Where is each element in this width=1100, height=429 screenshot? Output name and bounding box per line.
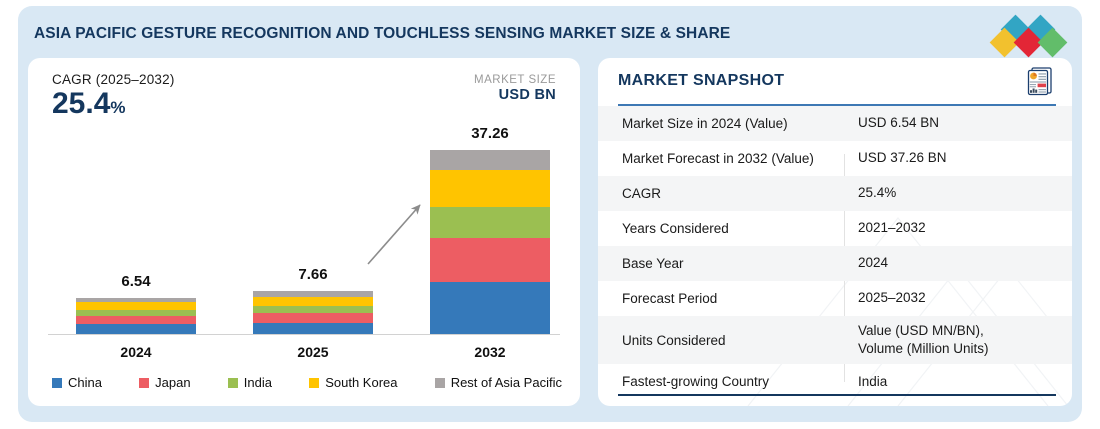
- stacked-bar-2032[interactable]: [430, 150, 550, 334]
- cagr-block: CAGR (2025–2032) 25.4%: [52, 72, 175, 120]
- bar-total-label-2025: 7.66: [253, 266, 373, 283]
- table-cell-key: Years Considered: [598, 221, 846, 236]
- legend-label-japan: Japan: [155, 375, 190, 390]
- bar-group-2032[interactable]: 37.26 2032: [430, 150, 550, 334]
- units-caption: MARKET SIZE: [474, 74, 556, 86]
- table-cell-value: 2024: [846, 254, 1072, 272]
- table-cell-key: Base Year: [598, 256, 846, 271]
- snapshot-bottom-rule: [618, 394, 1056, 396]
- table-row[interactable]: Base Year 2024: [598, 246, 1072, 281]
- bar-total-label-2024: 6.54: [76, 273, 196, 290]
- table-cell-value: USD 6.54 BN: [846, 114, 1072, 132]
- cagr-value: 25.4%: [52, 88, 175, 120]
- bar-segment-south-korea-2024[interactable]: [76, 302, 196, 310]
- table-cell-key: Units Considered: [598, 333, 846, 348]
- x-tick-label-2025: 2025: [253, 344, 373, 360]
- legend-label-india: India: [244, 375, 272, 390]
- x-tick-label-2024: 2024: [76, 344, 196, 360]
- bar-segment-china-2024[interactable]: [76, 324, 196, 334]
- bar-total-label-2032: 37.26: [430, 125, 550, 142]
- chart-legend: China Japan India South Korea Rest of As…: [52, 375, 562, 390]
- chart-card: CAGR (2025–2032) 25.4% MARKET SIZE USD B…: [28, 58, 580, 406]
- legend-label-china: China: [68, 375, 102, 390]
- table-cell-key: Market Size in 2024 (Value): [598, 116, 846, 131]
- bar-segment-japan-2024[interactable]: [76, 316, 196, 324]
- table-row[interactable]: Years Considered 2021–2032: [598, 211, 1072, 246]
- cagr-label: CAGR (2025–2032): [52, 72, 175, 87]
- legend-item-rest-of-asia-pacific[interactable]: Rest of Asia Pacific: [435, 375, 562, 390]
- bar-segment-china-2032[interactable]: [430, 282, 550, 334]
- legend-item-japan[interactable]: Japan: [139, 375, 190, 390]
- stacked-bar-2024[interactable]: [76, 298, 196, 334]
- table-cell-key: Fastest-growing Country: [598, 374, 846, 389]
- bar-chart-plot: 6.54 2024 7.66: [38, 138, 570, 368]
- x-tick-label-2032: 2032: [430, 344, 550, 360]
- x-axis-line: [48, 334, 560, 335]
- legend-swatch-rest-of-asia-pacific: [435, 378, 445, 388]
- legend-swatch-india: [228, 378, 238, 388]
- report-document-icon: [1026, 66, 1054, 96]
- table-cell-key: Market Forecast in 2032 (Value): [598, 151, 846, 166]
- legend-swatch-south-korea: [309, 378, 319, 388]
- table-row[interactable]: Units Considered Value (USD MN/BN), Volu…: [598, 316, 1072, 364]
- diamond-cluster-logo-icon: [994, 14, 1066, 54]
- table-cell-value: Value (USD MN/BN), Volume (Million Units…: [846, 322, 1072, 358]
- legend-label-south-korea: South Korea: [325, 375, 397, 390]
- bar-group-2024[interactable]: 6.54 2024: [76, 298, 196, 334]
- table-row[interactable]: Market Size in 2024 (Value) USD 6.54 BN: [598, 106, 1072, 141]
- snapshot-title: MARKET SNAPSHOT: [618, 72, 784, 90]
- page-title: ASIA PACIFIC GESTURE RECOGNITION AND TOU…: [34, 25, 730, 43]
- legend-item-india[interactable]: India: [228, 375, 272, 390]
- infographic-root: ASIA PACIFIC GESTURE RECOGNITION AND TOU…: [0, 0, 1100, 429]
- legend-swatch-japan: [139, 378, 149, 388]
- units-value: USD BN: [474, 87, 556, 103]
- legend-item-china[interactable]: China: [52, 375, 102, 390]
- stacked-bar-2025[interactable]: [253, 291, 373, 334]
- table-cell-key: Forecast Period: [598, 291, 846, 306]
- legend-label-rest-of-asia-pacific: Rest of Asia Pacific: [451, 375, 562, 390]
- table-cell-key: CAGR: [598, 186, 846, 201]
- cagr-number: 25.4: [52, 87, 110, 120]
- bar-group-2025[interactable]: 7.66 2025: [253, 291, 373, 334]
- bar-segment-south-korea-2025[interactable]: [253, 297, 373, 306]
- table-row[interactable]: CAGR 25.4%: [598, 176, 1072, 211]
- table-cell-value: USD 37.26 BN: [846, 149, 1072, 167]
- header-bar: ASIA PACIFIC GESTURE RECOGNITION AND TOU…: [18, 6, 1082, 62]
- bar-segment-south-korea-2032[interactable]: [430, 170, 550, 207]
- units-block: MARKET SIZE USD BN: [474, 74, 556, 103]
- bar-segment-rest-of-asia-pacific-2032[interactable]: [430, 150, 550, 170]
- legend-item-south-korea[interactable]: South Korea: [309, 375, 397, 390]
- table-cell-value: 2021–2032: [846, 219, 1072, 237]
- bar-segment-china-2025[interactable]: [253, 323, 373, 335]
- table-cell-value: 25.4%: [846, 184, 1072, 202]
- bar-segment-japan-2025[interactable]: [253, 313, 373, 322]
- bar-segment-india-2032[interactable]: [430, 207, 550, 238]
- table-row[interactable]: Forecast Period 2025–2032: [598, 281, 1072, 316]
- snapshot-table: Market Size in 2024 (Value) USD 6.54 BN …: [598, 106, 1072, 394]
- cagr-percent-sign: %: [110, 98, 125, 117]
- snapshot-header: MARKET SNAPSHOT: [598, 58, 1072, 104]
- bar-segment-japan-2032[interactable]: [430, 238, 550, 282]
- bar-segment-india-2025[interactable]: [253, 306, 373, 313]
- market-snapshot-card: MARKET SNAPSHOT: [598, 58, 1072, 406]
- table-cell-value: 2025–2032: [846, 289, 1072, 307]
- legend-swatch-china: [52, 378, 62, 388]
- table-row[interactable]: Market Forecast in 2032 (Value) USD 37.2…: [598, 141, 1072, 176]
- table-cell-value: India: [846, 373, 1072, 391]
